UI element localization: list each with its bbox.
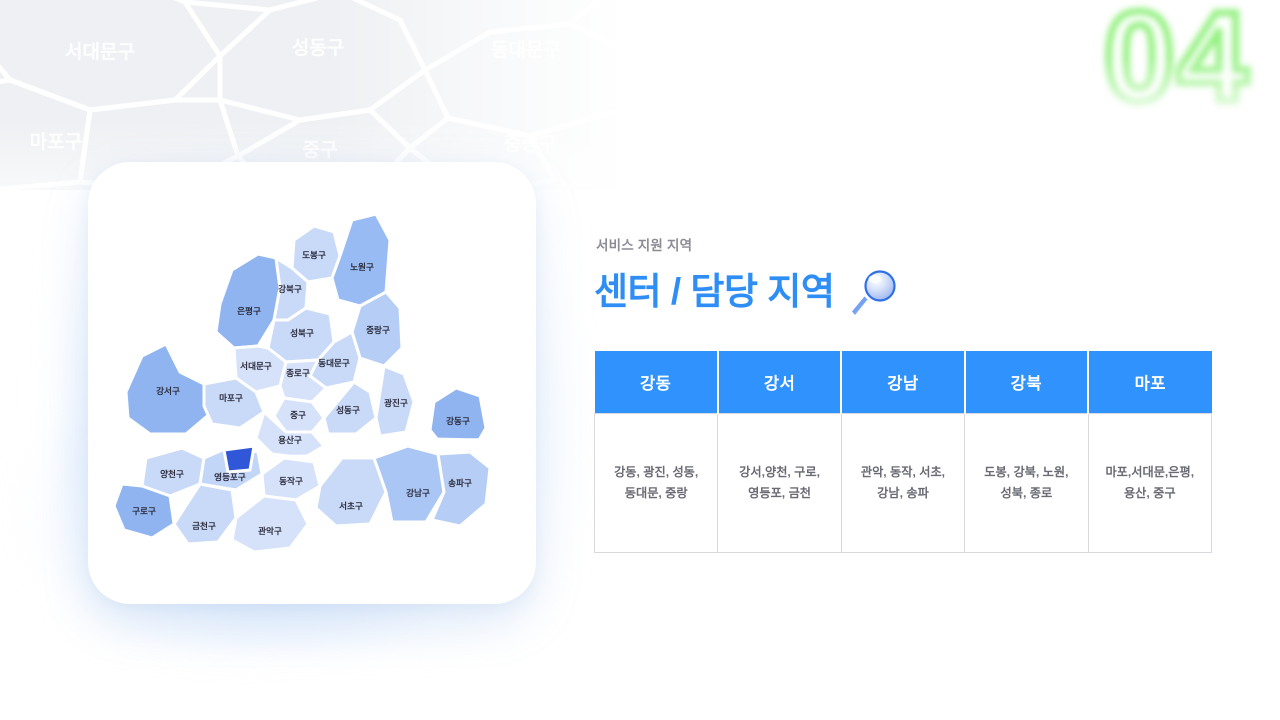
svg-text:서대문구: 서대문구 — [65, 41, 135, 63]
svg-text:종로구: 종로구 — [286, 368, 310, 378]
table-cell: 도봉, 강북, 노원, 성북, 종로 — [965, 414, 1088, 553]
svg-text:성북구: 성북구 — [290, 327, 314, 338]
svg-text:강남구: 강남구 — [406, 487, 430, 498]
table-row: 강동, 광진, 성동, 동대문, 중랑 강서,양천, 구로, 영등포, 금천 관… — [595, 414, 1212, 553]
table-cell: 마포,서대문,은평,용산, 중구 — [1088, 414, 1211, 553]
section-eyebrow: 서비스 지원 지역 — [596, 234, 1234, 254]
svg-text:서대문구: 서대문구 — [240, 360, 272, 371]
slide-root: 서대문구 성동구 동대문구 마포구 중구 중랑구 종로구 광진구 04 — [0, 0, 1280, 720]
table-header-cell: 강서 — [718, 351, 841, 414]
title-row: 센터 / 담당 지역 — [594, 263, 1234, 321]
svg-text:서초구: 서초구 — [339, 500, 363, 511]
svg-text:성동구: 성동구 — [336, 404, 360, 415]
svg-text:관악구: 관악구 — [258, 525, 282, 536]
svg-text:동작구: 동작구 — [279, 476, 303, 486]
seoul-map-card: 은평구 도봉구 강북구 노원구 성북구 중랑구 동대문구 서대문구 종로구 강서… — [88, 162, 536, 604]
svg-text:마포구: 마포구 — [30, 131, 82, 153]
svg-text:동대문구: 동대문구 — [491, 39, 561, 61]
table-cell: 강서,양천, 구로, 영등포, 금천 — [718, 414, 841, 553]
svg-text:은평구: 은평구 — [237, 305, 261, 316]
svg-text:광진구: 광진구 — [384, 397, 408, 408]
svg-text:중랑구: 중랑구 — [504, 133, 556, 155]
svg-text:양천구: 양천구 — [160, 468, 184, 479]
svg-text:구로구: 구로구 — [132, 506, 156, 516]
magnifier-icon — [848, 265, 904, 321]
page-number: 04 — [1104, 0, 1250, 122]
svg-text:마포구: 마포구 — [219, 392, 243, 403]
svg-text:강북구: 강북구 — [278, 283, 302, 294]
svg-text:금천구: 금천구 — [192, 521, 216, 531]
svg-text:강서구: 강서구 — [156, 385, 180, 396]
svg-text:도봉구: 도봉구 — [302, 250, 326, 260]
svg-text:중구: 중구 — [303, 140, 338, 161]
table-cell: 관악, 동작, 서초, 강남, 송파 — [841, 414, 964, 553]
svg-text:송파구: 송파구 — [448, 477, 472, 488]
center-region-table: 강동 강서 강남 강북 마포 강동, 광진, 성동, 동대문, 중랑 강서,양천… — [594, 351, 1212, 553]
right-panel: 서비스 지원 지역 센터 / 담당 지역 — [594, 234, 1234, 553]
svg-text:용산구: 용산구 — [278, 434, 302, 445]
table-header-cell: 강북 — [965, 351, 1088, 414]
seoul-district-map[interactable]: 은평구 도봉구 강북구 노원구 성북구 중랑구 동대문구 서대문구 종로구 강서… — [108, 196, 516, 572]
table-header-row: 강동 강서 강남 강북 마포 — [595, 351, 1212, 414]
table-header-cell: 마포 — [1088, 351, 1211, 414]
page-title: 센터 / 담당 지역 — [594, 273, 834, 312]
svg-text:영등포구: 영등포구 — [214, 471, 246, 482]
svg-text:동대문구: 동대문구 — [318, 357, 350, 368]
table-cell: 강동, 광진, 성동, 동대문, 중랑 — [595, 414, 718, 553]
svg-text:성동구: 성동구 — [292, 37, 344, 59]
svg-text:노원구: 노원구 — [350, 261, 374, 272]
table-header-cell: 강남 — [841, 351, 964, 414]
svg-text:중구: 중구 — [290, 410, 306, 420]
svg-text:강동구: 강동구 — [446, 415, 470, 426]
table-header-cell: 강동 — [595, 351, 718, 414]
svg-text:중랑구: 중랑구 — [366, 324, 390, 335]
